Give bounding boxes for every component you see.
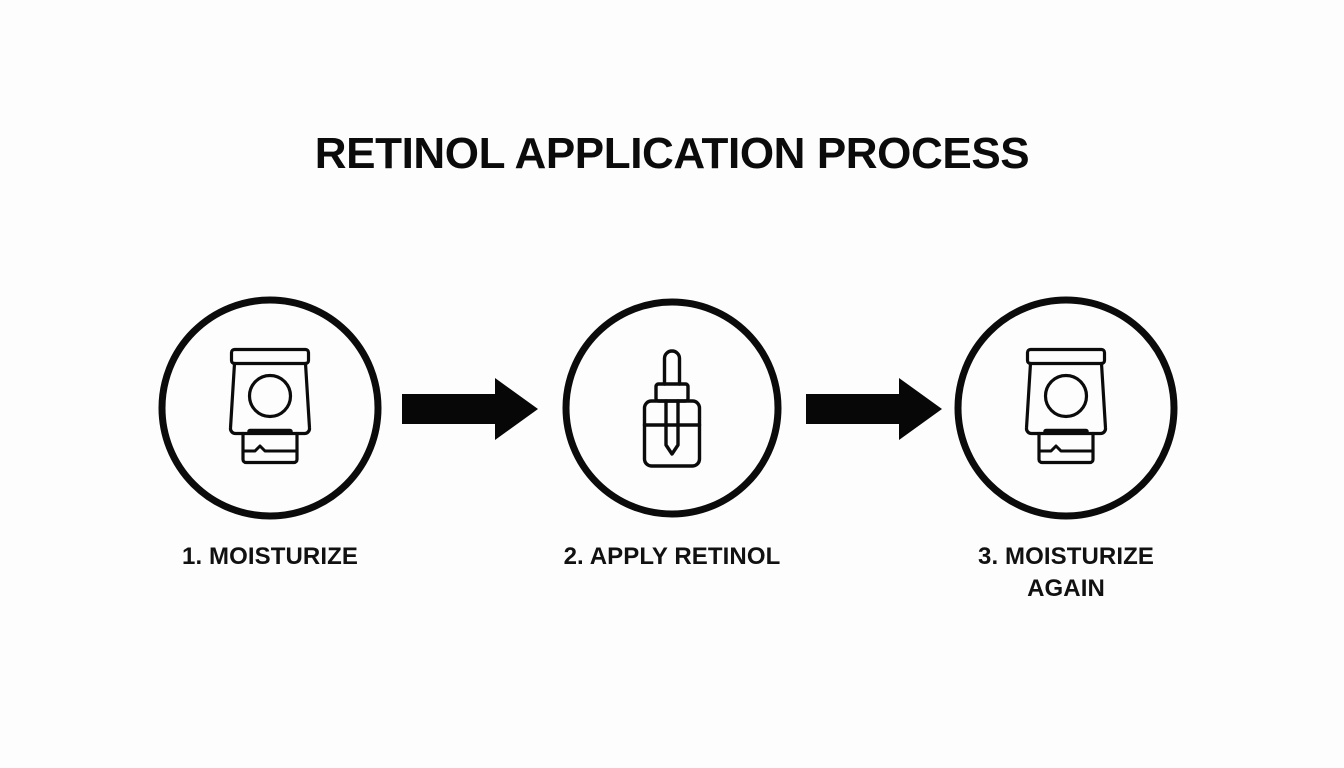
step-2-label: 2. APPLY RETINOL	[547, 541, 797, 573]
cream-tube-icon	[230, 350, 309, 463]
arrow-right-icon	[806, 378, 942, 440]
page-title: RETINOL APPLICATION PROCESS	[0, 132, 1344, 176]
process-step-3: 3. MOISTURIZE AGAIN	[926, 296, 1206, 604]
step-1-label: 1. MOISTURIZE	[145, 541, 395, 573]
cream-tube-icon	[1026, 350, 1105, 463]
dropper-bottle-icon	[645, 351, 700, 466]
step-3-icon-circle	[954, 296, 1178, 520]
connector-arrow-1	[402, 378, 538, 440]
infographic-canvas: RETINOL APPLICATION PROCESS	[0, 0, 1344, 768]
step-3-label: 3. MOISTURIZE AGAIN	[941, 541, 1191, 604]
step-2-icon-circle	[560, 296, 784, 520]
step-1-icon-circle	[158, 296, 382, 520]
process-step-2: 2. APPLY RETINOL	[532, 296, 812, 573]
arrow-right-icon	[402, 378, 538, 440]
process-step-1: 1. MOISTURIZE	[130, 296, 410, 573]
connector-arrow-2	[806, 378, 942, 440]
